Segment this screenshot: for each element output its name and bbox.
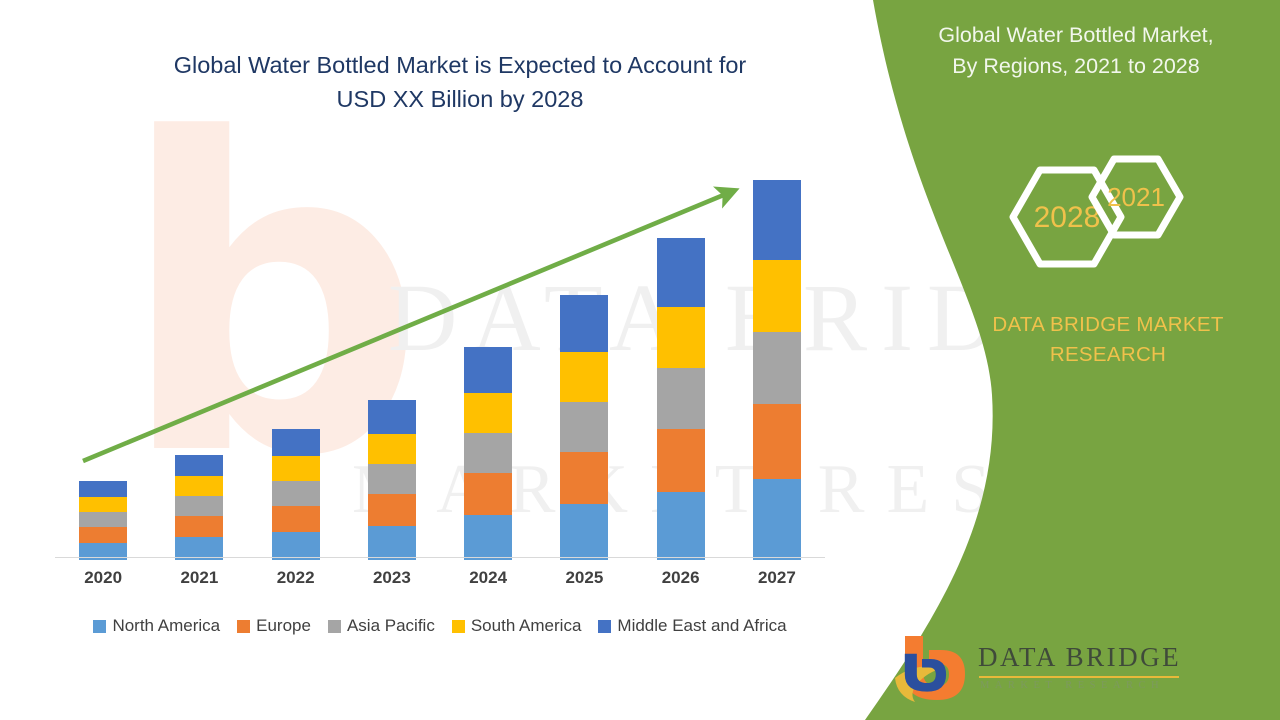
- x-axis-label: 2025: [544, 568, 624, 588]
- bar-segment: [560, 504, 608, 560]
- brand-name-line2: RESEARCH: [958, 340, 1258, 370]
- x-axis-label: 2026: [641, 568, 721, 588]
- bar-segment: [79, 481, 127, 497]
- legend-item[interactable]: North America: [93, 616, 220, 636]
- logo-subtitle: MARKET RESEARCH: [980, 680, 1164, 691]
- legend-label: North America: [112, 616, 220, 636]
- bar-segment: [79, 527, 127, 543]
- bar-segment: [464, 393, 512, 433]
- bar-column: [753, 180, 801, 560]
- bar-segment: [175, 496, 223, 516]
- brand-panel: Global Water Bottled Market, By Regions,…: [840, 0, 1280, 720]
- bar-segment: [272, 456, 320, 481]
- legend-item[interactable]: Asia Pacific: [328, 616, 435, 636]
- bar-segment: [753, 260, 801, 332]
- bar-segment: [368, 400, 416, 434]
- legend-label: Asia Pacific: [347, 616, 435, 636]
- bar-segment: [560, 402, 608, 452]
- legend-swatch-icon: [598, 620, 611, 633]
- x-axis-labels: 20202021202220232024202520262027: [55, 568, 825, 596]
- logo-mark-icon: [893, 632, 971, 706]
- bar-segment: [272, 481, 320, 506]
- bar-segment: [464, 347, 512, 393]
- brand-name: DATA BRIDGE MARKET RESEARCH: [958, 310, 1258, 370]
- legend-swatch-icon: [93, 620, 106, 633]
- bar-segment: [657, 307, 705, 368]
- brand-name-line1: DATA BRIDGE MARKET: [958, 310, 1258, 340]
- legend-label: Europe: [256, 616, 311, 636]
- legend-swatch-icon: [328, 620, 341, 633]
- stacked-bar-plot: [55, 170, 825, 560]
- bar-segment: [753, 180, 801, 260]
- panel-title-line2: By Regions, 2021 to 2028: [880, 51, 1272, 82]
- x-axis-label: 2024: [448, 568, 528, 588]
- bar-column: [560, 295, 608, 560]
- x-axis-label: 2021: [159, 568, 239, 588]
- legend-item[interactable]: South America: [452, 616, 582, 636]
- bar-segment: [175, 516, 223, 537]
- bar-segment: [368, 464, 416, 494]
- x-axis-line: [55, 557, 825, 558]
- legend-item[interactable]: Europe: [237, 616, 311, 636]
- legend-swatch-icon: [452, 620, 465, 633]
- bar-segment: [368, 434, 416, 464]
- company-logo: DATA BRIDGE MARKET RESEARCH: [880, 632, 1260, 706]
- bar-segment: [464, 473, 512, 515]
- bar-segment: [368, 494, 416, 526]
- bar-segment: [464, 515, 512, 560]
- bar-segment: [79, 512, 127, 527]
- panel-title: Global Water Bottled Market, By Regions,…: [880, 20, 1272, 82]
- chart-legend: North AmericaEuropeAsia PacificSouth Ame…: [55, 616, 825, 636]
- hexagon-label-right: 2021: [1107, 182, 1165, 212]
- bar-segment: [560, 295, 608, 352]
- bar-column: [464, 347, 512, 560]
- hexagon-label-left: 2028: [1034, 201, 1101, 234]
- bar-segment: [753, 332, 801, 404]
- logo-wordmark: DATA BRIDGE: [978, 642, 1181, 673]
- bar-segment: [368, 526, 416, 560]
- legend-label: Middle East and Africa: [617, 616, 786, 636]
- x-axis-label: 2023: [352, 568, 432, 588]
- year-hexagons: 2028 2021: [995, 145, 1195, 290]
- bar-segment: [560, 452, 608, 504]
- chart-title-line1: Global Water Bottled Market is Expected …: [90, 48, 830, 82]
- infographic-canvas: b DATA BRIDGE MARKET RESEARCH Global Wat…: [0, 0, 1280, 720]
- bar-column: [368, 400, 416, 560]
- bar-segment: [272, 532, 320, 560]
- bar-segment: [657, 429, 705, 492]
- legend-item[interactable]: Middle East and Africa: [598, 616, 786, 636]
- bar-segment: [657, 238, 705, 307]
- bar-segment: [753, 404, 801, 479]
- bar-column: [657, 238, 705, 560]
- x-axis-label: 2022: [256, 568, 336, 588]
- legend-swatch-icon: [237, 620, 250, 633]
- bar-segment: [560, 352, 608, 402]
- bar-segment: [272, 429, 320, 456]
- bar-column: [272, 429, 320, 560]
- bar-segment: [657, 492, 705, 560]
- x-axis-label: 2027: [737, 568, 817, 588]
- bar-segment: [464, 433, 512, 473]
- legend-label: South America: [471, 616, 582, 636]
- bar-segment: [175, 476, 223, 496]
- x-axis-label: 2020: [63, 568, 143, 588]
- panel-title-line1: Global Water Bottled Market,: [880, 20, 1272, 51]
- logo-divider: [979, 676, 1179, 678]
- bar-column: [175, 455, 223, 560]
- bar-segment: [753, 479, 801, 560]
- chart-title-line2: USD XX Billion by 2028: [90, 82, 830, 116]
- bar-segment: [272, 506, 320, 532]
- bar-segment: [657, 368, 705, 429]
- bar-segment: [175, 455, 223, 476]
- chart-title: Global Water Bottled Market is Expected …: [90, 48, 830, 116]
- bar-column: [79, 481, 127, 560]
- bar-segment: [79, 497, 127, 512]
